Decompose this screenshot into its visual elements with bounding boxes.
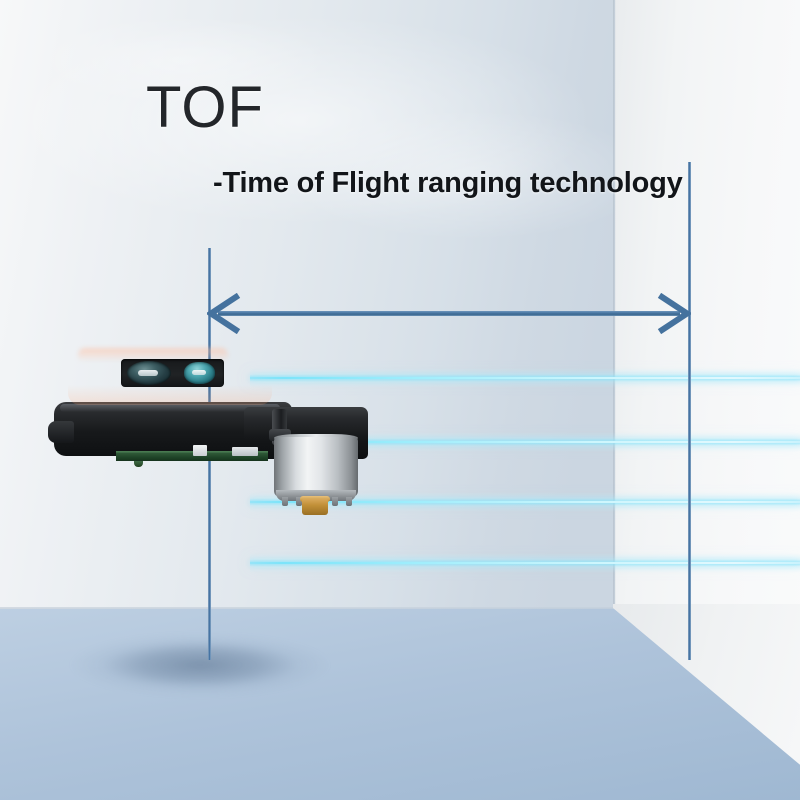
silver-motor-cylinder <box>274 437 358 497</box>
arrow-head-left-icon <box>207 293 241 334</box>
white-connector-2 <box>232 447 258 456</box>
page-subtitle: -Time of Flight ranging technology <box>213 168 683 200</box>
motor-pin-4 <box>346 497 352 506</box>
large-lens-icon <box>127 361 171 385</box>
arrow-head-right-icon <box>657 293 691 334</box>
small-lens-icon <box>184 362 215 384</box>
arrow-shaft <box>218 311 680 316</box>
robot-drop-shadow <box>70 634 330 696</box>
motor-pin-1 <box>282 497 288 506</box>
motor-pin-3 <box>332 497 338 506</box>
wall-sheen <box>0 0 640 330</box>
robot-vacuum-tof-module <box>48 345 378 535</box>
scene-canvas: TOF -Time of Flight ranging technology <box>0 0 800 800</box>
pcb-tab <box>134 461 143 467</box>
brass-connector <box>302 499 328 515</box>
orange-top-sheen <box>68 385 272 405</box>
dimension-extension-line-right <box>688 162 691 660</box>
sensor-window <box>121 359 224 387</box>
wall-floor-junction <box>0 607 616 609</box>
white-connector <box>193 445 207 456</box>
robot-rear-bumper <box>48 421 74 443</box>
ranging-distance-arrow <box>208 306 690 321</box>
page-title: TOF <box>146 79 264 137</box>
